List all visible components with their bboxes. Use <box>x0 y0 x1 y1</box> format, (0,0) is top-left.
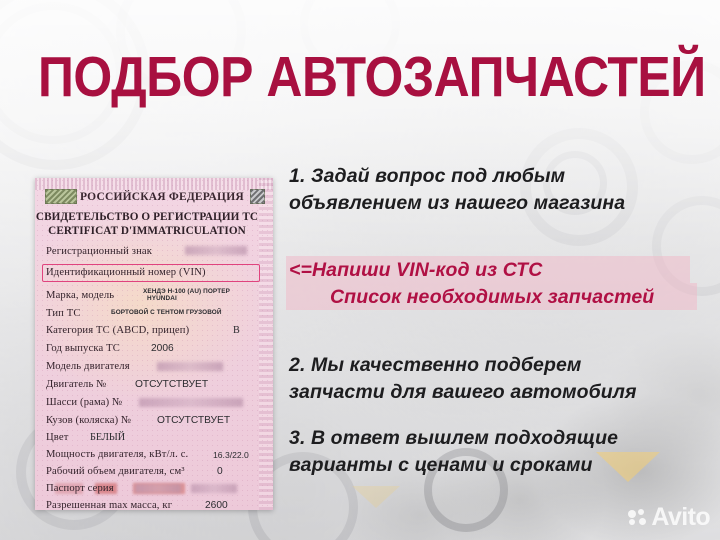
doc-field-value-category: B <box>233 325 240 336</box>
doc-field-label-category: Категория ТС (ABCD, прицеп) <box>46 325 189 336</box>
doc-country-label: РОССИЙСКАЯ ФЕДЕРАЦИЯ <box>77 191 247 203</box>
avito-watermark-text: Avito <box>651 505 710 530</box>
doc-field-value-year: 2006 <box>151 343 174 354</box>
redacted-value <box>135 484 181 493</box>
instruction-step-1-line-1: 1. Задай вопрос под любым <box>289 163 565 190</box>
avito-logo-icon <box>628 509 647 526</box>
doc-field-label-vin: Идентификационный номер (VIN) <box>46 267 206 278</box>
redacted-value <box>139 398 243 407</box>
doc-field-label-color: Цвет <box>46 432 69 443</box>
doc-field-label-reg-plate: Регистрационный знак <box>46 246 152 257</box>
instruction-step-3-line-2: варианты с ценами и сроками <box>289 452 593 479</box>
highlight-vin-prompt-line-2: Список необходимых запчастей <box>330 284 654 311</box>
vehicle-registration-certificate-image: РОССИЙСКАЯ ФЕДЕРАЦИЯ СВИДЕТЕЛЬСТВО О РЕГ… <box>35 178 273 510</box>
hologram-patch-icon <box>45 189 77 204</box>
doc-field-label-power: Мощность двигателя, кВт/л. с. <box>46 449 188 460</box>
doc-field-value-body-no: ОТСУТСТВУЕТ <box>157 415 230 426</box>
instruction-step-2-line-2: запчасти для вашего автомобиля <box>289 379 637 406</box>
doc-field-value-displacement: 0 <box>217 466 223 477</box>
instruction-step-2-line-1: 2. Мы качественно подберем <box>289 352 581 379</box>
doc-field-value-engine-no: ОТСУТСТВУЕТ <box>135 379 208 390</box>
bearing-ring-icon <box>652 196 720 296</box>
doc-field-label-body-no: Кузов (коляска) № <box>46 415 131 426</box>
doc-field-value-max-mass: 2600 <box>205 500 228 510</box>
doc-field-label-engine-no: Двигатель № <box>46 379 107 390</box>
doc-field-label-max-mass: Разрешенная max масса, кг <box>46 500 172 510</box>
doc-field-value-color: БЕЛЫЙ <box>90 432 125 443</box>
doc-field-label-year: Год выпуска ТС <box>46 343 120 354</box>
hologram-patch-icon <box>250 189 265 204</box>
instruction-step-1-line-2: объявлением из нашего магазина <box>289 190 625 217</box>
doc-field-label-displacement: Рабочий объем двигателя, см³ <box>46 466 185 477</box>
doc-country-row: РОССИЙСКАЯ ФЕДЕРАЦИЯ <box>45 189 265 204</box>
doc-title-ru: СВИДЕТЕЛЬСТВО О РЕГИСТРАЦИИ ТС <box>35 211 259 223</box>
doc-field-label-make-model: Марка, модель <box>46 290 114 301</box>
doc-field-label-chassis-no: Шасси (рама) № <box>46 397 122 408</box>
avito-watermark: Avito <box>628 505 710 530</box>
doc-field-label-engine-model: Модель двигателя <box>46 361 130 372</box>
doc-field-value-power: 16.3/22.0 <box>213 450 249 460</box>
redacted-value <box>157 362 223 371</box>
doc-field-label-vehicle-type: Тип ТС <box>46 308 81 319</box>
redacted-value <box>185 246 247 255</box>
guilloche-side-band <box>259 178 273 510</box>
instruction-step-3-line-1: 3. В ответ вышлем подходящие <box>289 425 618 452</box>
yellow-marker-shape <box>352 486 400 508</box>
slide-canvas: ПОДБОР АВТОЗАПЧАСТЕЙ РОССИЙСКАЯ ФЕДЕРАЦИ… <box>0 0 720 540</box>
highlight-vin-prompt-line-1: <=Напиши VIN-код из СТС <box>289 257 542 284</box>
doc-field-value-make-model-latin: HYUNDAI <box>147 295 177 303</box>
yellow-marker-shape <box>596 452 660 482</box>
doc-field-value-vehicle-type: БОРТОВОЙ С ТЕНТОМ ГРУЗОВОЙ <box>111 309 222 317</box>
redacted-value <box>191 484 237 493</box>
doc-title-fr: CERTIFICAT D'IMMATRICULATION <box>35 225 259 237</box>
page-title: ПОДБОР АВТОЗАПЧАСТЕЙ <box>38 46 623 108</box>
doc-field-label-passport-series: Паспорт серия <box>46 483 114 494</box>
